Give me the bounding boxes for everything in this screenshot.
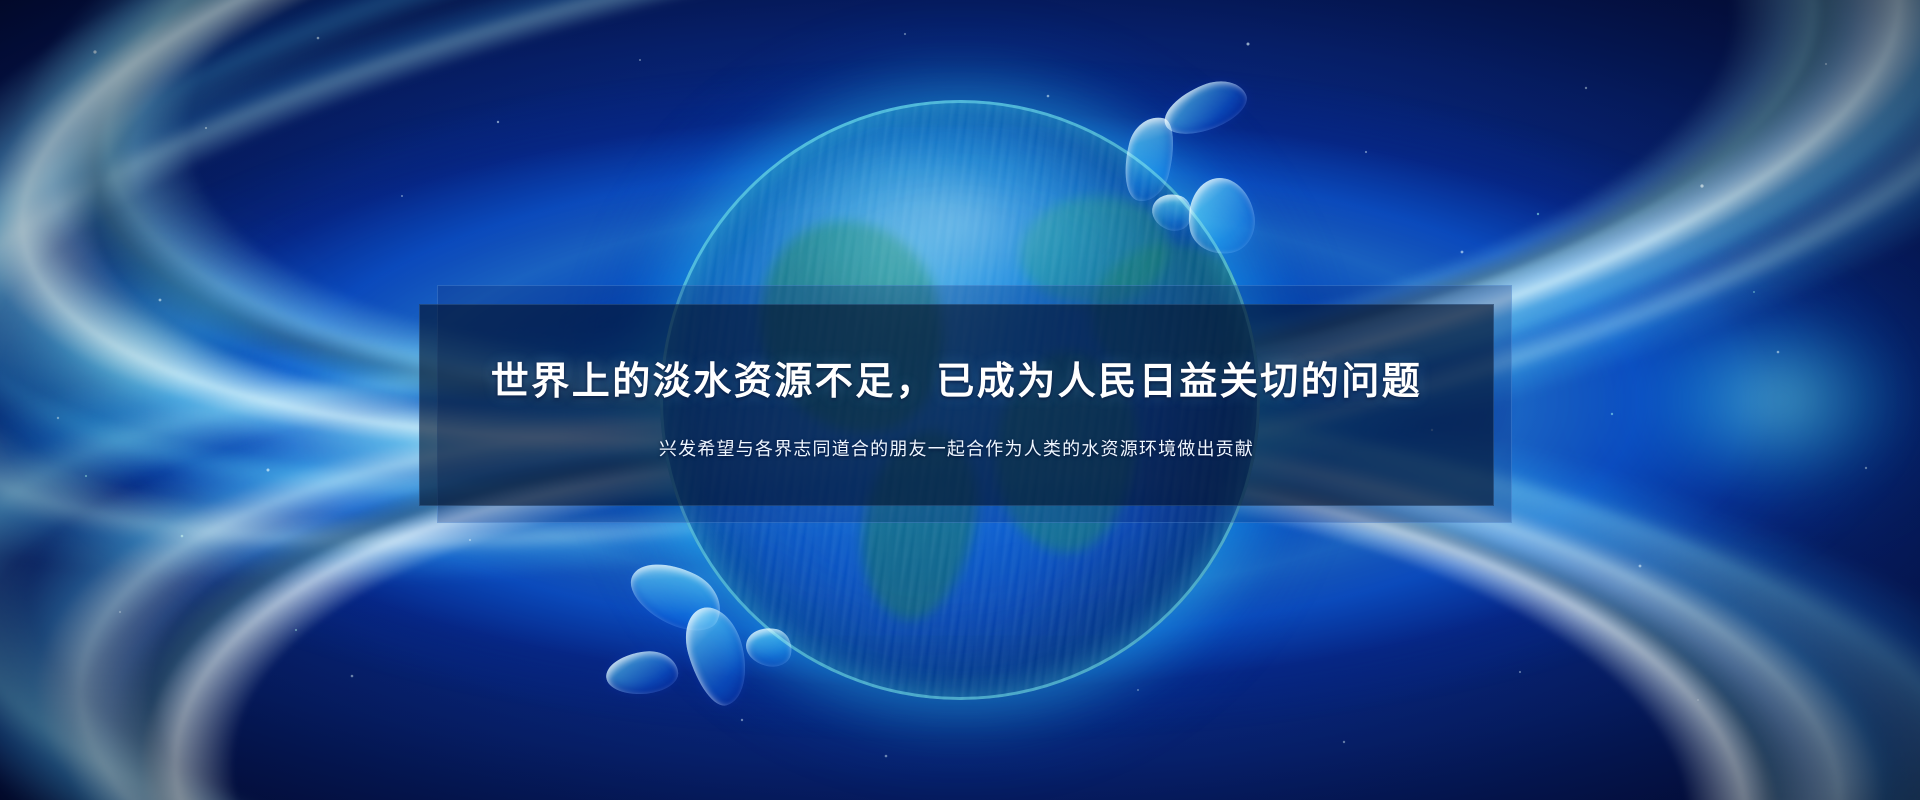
cyan-glow-left — [0, 202, 350, 502]
page-title: 世界上的淡水资源不足，已成为人民日益关切的问题 — [491, 350, 1423, 405]
page-subtitle: 兴发希望与各界志同道合的朋友一起合作为人类的水资源环境做出贡献 — [659, 435, 1254, 461]
headline-panel: 世界上的淡水资源不足，已成为人民日益关切的问题 兴发希望与各界志同道合的朋友一起… — [419, 304, 1494, 506]
cyan-glow-right — [1570, 250, 1920, 550]
water-resources-banner: 世界上的淡水资源不足，已成为人民日益关切的问题 兴发希望与各界志同道合的朋友一起… — [0, 0, 1920, 800]
